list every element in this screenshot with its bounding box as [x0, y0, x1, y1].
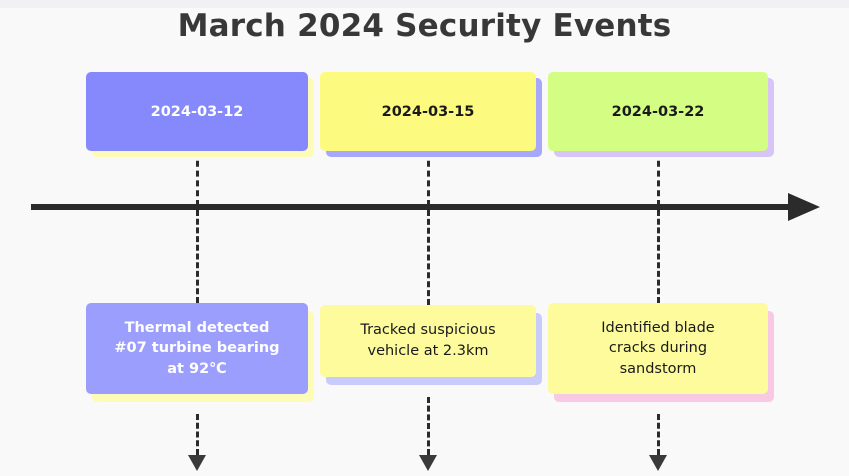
description-text-2: Tracked suspiciousvehicle at 2.3km	[360, 320, 495, 361]
timeline-axis-arrow-icon	[788, 193, 820, 221]
connector-dash-top-2	[427, 151, 430, 206]
description-card-3[interactable]: Identified bladecracks duringsandstorm	[548, 303, 768, 394]
connector-dash-mid-2	[427, 210, 430, 305]
connector-dash-bottom-1	[196, 414, 199, 455]
description-card-1[interactable]: Thermal detected#07 turbine bearingat 92…	[86, 303, 308, 394]
connector-arrow-3	[649, 455, 667, 471]
connector-dash-top-3	[657, 151, 660, 206]
connector-dash-mid-1	[196, 210, 199, 303]
connector-arrow-1	[188, 455, 206, 471]
date-card-3[interactable]: 2024-03-22	[548, 72, 768, 151]
date-card-1[interactable]: 2024-03-12	[86, 72, 308, 151]
connector-arrow-2	[419, 455, 437, 471]
description-text-1: Thermal detected#07 turbine bearingat 92…	[114, 318, 279, 380]
connector-dash-bottom-2	[427, 397, 430, 455]
timeline-axis-line	[31, 204, 811, 210]
page-title: March 2024 Security Events	[0, 8, 849, 44]
timeline-canvas: March 2024 Security Events 2024-03-12 Th…	[0, 0, 849, 476]
date-label-3: 2024-03-22	[612, 104, 705, 120]
date-card-2[interactable]: 2024-03-15	[320, 72, 536, 151]
date-label-1: 2024-03-12	[151, 104, 244, 120]
description-card-2[interactable]: Tracked suspiciousvehicle at 2.3km	[320, 305, 536, 377]
description-text-3: Identified bladecracks duringsandstorm	[601, 318, 714, 380]
connector-dash-mid-3	[657, 210, 660, 303]
connector-dash-top-1	[196, 151, 199, 206]
connector-dash-bottom-3	[657, 414, 660, 455]
date-label-2: 2024-03-15	[382, 104, 475, 120]
